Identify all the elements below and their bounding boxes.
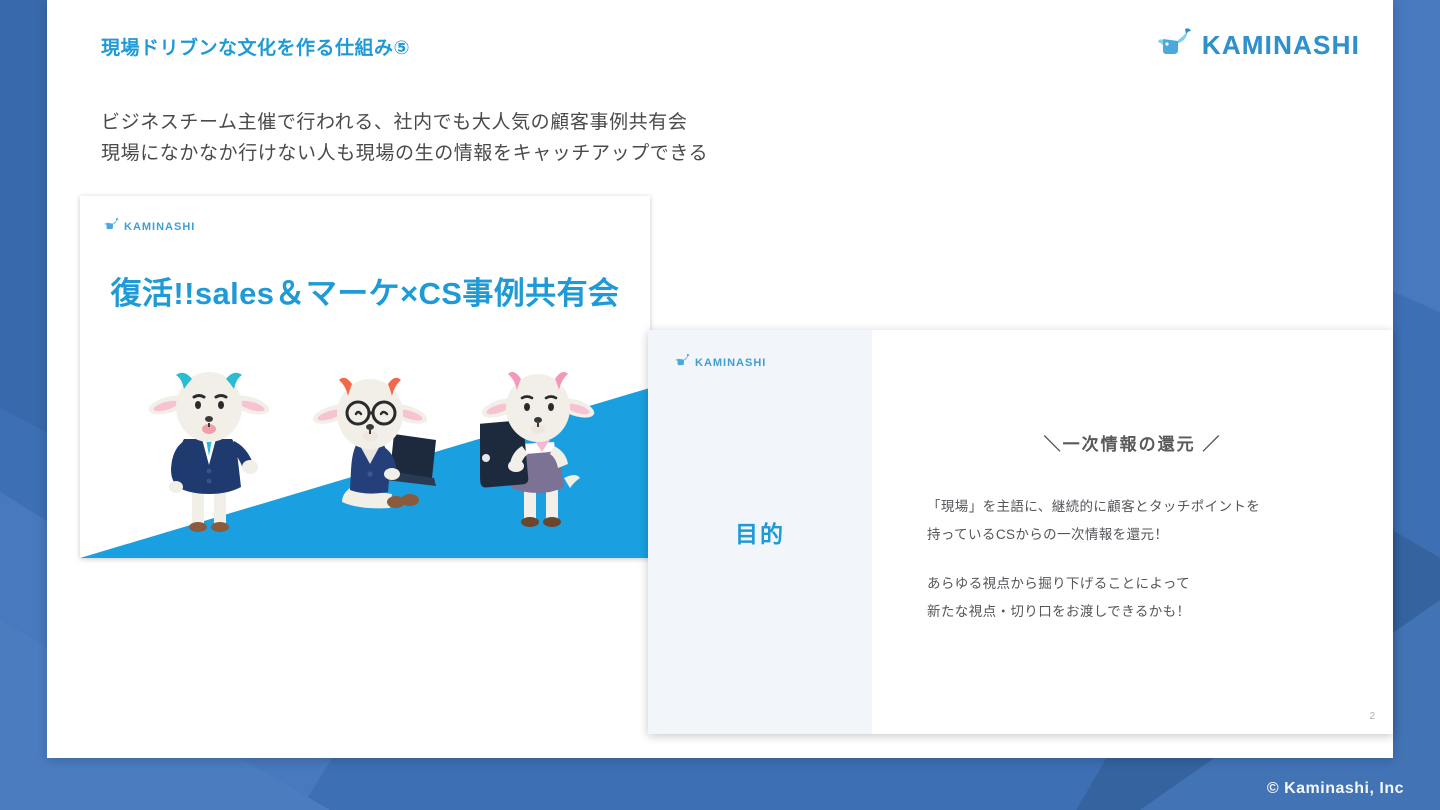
purpose-right-panel: ＼一次情報の還元 ／ 「現場」を主語に、継続的に顧客とタッチポイントを 持ってい… [872, 330, 1393, 734]
purpose-left-panel: KAMINASHI 目的 [648, 330, 872, 734]
purpose-p2-line-1: あらゆる視点から掘り下げることによって [927, 570, 1260, 598]
purpose-p1-line-1: 「現場」を主語に、継続的に顧客とタッチポイントを [927, 493, 1260, 521]
lead-line-2: 現場になかなか行けない人も現場の生の情報をキャッチアップできる [101, 139, 708, 170]
goat-presenter-illustration [146, 361, 274, 536]
goat-head-icon [104, 217, 121, 237]
page-title: 現場ドリブンな文化を作る仕組み⑤ [101, 33, 410, 60]
purpose-p2-line-2: 新たな視点・切り口をお渡しできるかも！ [927, 598, 1260, 626]
lead-paragraph: ビジネスチーム主催で行われる、社内でも大人気の顧客事例共有会 現場になかなか行け… [101, 108, 708, 170]
embedded-brand-name-2: KAMINASHI [695, 357, 766, 369]
embedded-brand-name-1: KAMINASHI [124, 221, 195, 233]
goat-laptop-illustration [312, 368, 450, 528]
embedded-slide-purpose[interactable]: KAMINASHI 目的 ＼一次情報の還元 ／ 「現場」を主語に、継続的に顧客と… [648, 330, 1393, 734]
poster-title: 復活!!sales＆マーケ×CS事例共有会 [80, 268, 650, 313]
purpose-paragraph-2: あらゆる視点から掘り下げることによって 新たな視点・切り口をお渡しできるかも！ [927, 570, 1260, 625]
footer-copyright: © Kaminashi, Inc [1267, 780, 1404, 798]
embedded-brand-logo-1: KAMINASHI [104, 217, 195, 237]
purpose-label: 目的 [648, 515, 872, 549]
purpose-heading: ＼一次情報の還元 ／ [872, 430, 1393, 455]
purpose-paragraph-1: 「現場」を主語に、継続的に顧客とタッチポイントを 持っているCSからの一次情報を… [927, 493, 1260, 548]
embedded-brand-logo-2: KAMINASHI [675, 353, 766, 373]
purpose-body: 「現場」を主語に、継続的に顧客とタッチポイントを 持っているCSからの一次情報を… [927, 493, 1260, 626]
slide-card: 現場ドリブンな文化を作る仕組み⑤ KAMINASHI ビジネスチーム主催で行われ… [47, 0, 1393, 758]
page-number: 2 [1369, 711, 1375, 722]
goat-head-icon [675, 353, 692, 373]
lead-line-1: ビジネスチーム主催で行われる、社内でも大人気の顧客事例共有会 [101, 108, 708, 139]
poster-characters [80, 318, 650, 558]
goat-head-icon [1157, 26, 1197, 65]
brand-logo: KAMINASHI [1157, 26, 1360, 65]
goat-tablet-illustration [480, 360, 604, 532]
purpose-p1-line-2: 持っているCSからの一次情報を還元！ [927, 521, 1260, 549]
embedded-slide-event-poster[interactable]: KAMINASHI 復活!!sales＆マーケ×CS事例共有会 [80, 196, 650, 558]
brand-name: KAMINASHI [1202, 30, 1360, 61]
presentation-stage: 現場ドリブンな文化を作る仕組み⑤ KAMINASHI ビジネスチーム主催で行われ… [0, 0, 1440, 810]
